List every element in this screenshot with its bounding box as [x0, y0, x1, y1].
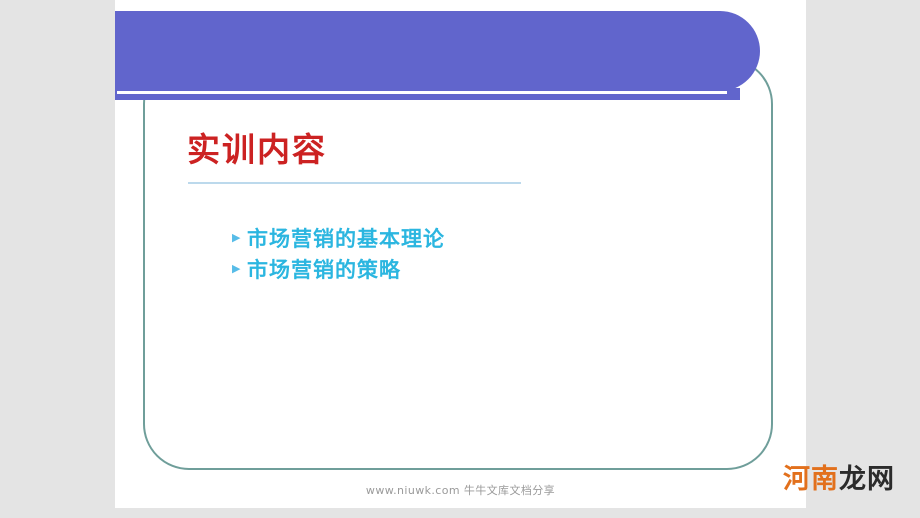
header-banner [115, 11, 760, 91]
watermark: 河南龙网 [783, 463, 895, 497]
bullet-list: ▶ 市场营销的基本理论 ▶ 市场营销的策略 [232, 222, 445, 284]
title-block: 实训内容 [187, 128, 607, 172]
list-item-label: 市场营销的基本理论 [247, 223, 445, 253]
header-white-rule [117, 91, 727, 94]
page-title: 实训内容 [187, 128, 607, 172]
triangle-bullet-icon: ▶ [232, 263, 247, 274]
list-item-label: 市场营销的策略 [247, 254, 401, 284]
watermark-prefix: 河南 [783, 464, 839, 495]
list-item[interactable]: ▶ 市场营销的策略 [232, 253, 445, 284]
list-item[interactable]: ▶ 市场营销的基本理论 [232, 222, 445, 253]
slide-canvas: 实训内容 ▶ 市场营销的基本理论 ▶ 市场营销的策略 www.niuwk.com… [115, 0, 806, 508]
header-banner-lower-strip [115, 88, 740, 100]
footer-source-note: www.niuwk.com 牛牛文库文档分享 [115, 482, 806, 498]
title-underline [188, 182, 521, 184]
triangle-bullet-icon: ▶ [232, 232, 247, 243]
watermark-suffix: 龙网 [839, 464, 895, 495]
